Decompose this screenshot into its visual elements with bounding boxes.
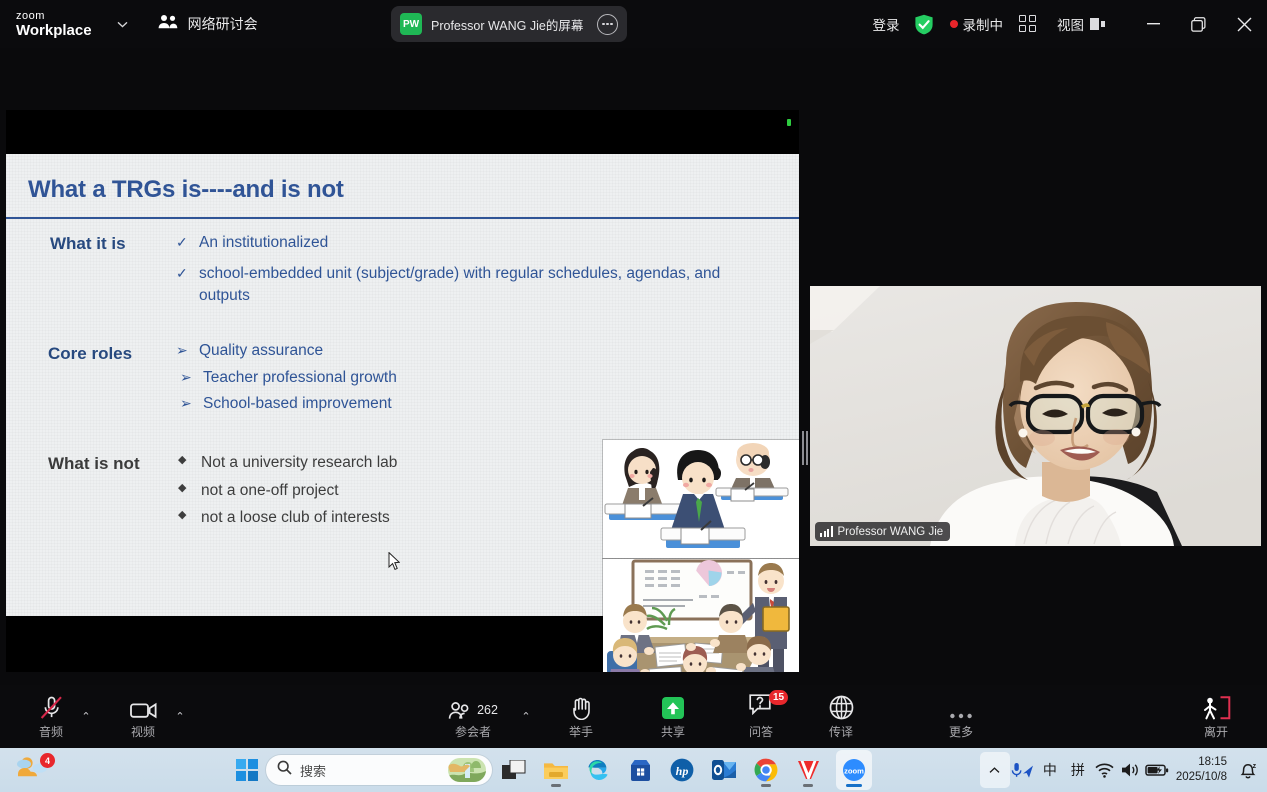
svg-text:hp: hp <box>676 764 689 778</box>
file-explorer-icon[interactable] <box>542 750 570 790</box>
running-indicator <box>803 784 813 787</box>
search-input[interactable]: 搜索 <box>266 755 492 785</box>
microsoft-store-icon[interactable] <box>626 750 654 790</box>
participant-video-tile[interactable]: Professor WANG Jie <box>810 286 1261 546</box>
weather-cloud-sun-icon <box>14 772 56 789</box>
google-chrome-icon[interactable] <box>752 750 780 790</box>
chevron-up-icon[interactable] <box>980 752 1010 788</box>
clipart-three-people-taking-notes <box>603 440 799 558</box>
list-item: ➢ Teacher professional growth <box>176 367 606 390</box>
leave-meeting-icon <box>1201 694 1231 720</box>
svg-text:z: z <box>1253 763 1257 770</box>
webinar-label: 网络研讨会 <box>188 14 258 34</box>
diamond-bullet-icon: ◆ <box>178 452 192 475</box>
green-dot-icon <box>787 119 791 126</box>
share-tab-title: Professor WANG Jie的屏幕 <box>431 15 588 34</box>
check-mark-icon: ✓ <box>176 263 190 308</box>
participant-name: Professor WANG Jie <box>838 526 944 538</box>
clock-date: 2025/10/8 <box>1176 770 1227 785</box>
ime-pinyin-indicator[interactable]: 拼 <box>1064 752 1092 788</box>
recording-indicator[interactable]: 录制中 <box>950 14 1004 34</box>
presentation-slide: What a TRGs is----and is not What it is … <box>6 154 799 616</box>
recording-label: 录制中 <box>963 14 1004 34</box>
people-icon <box>158 14 179 34</box>
qa-button[interactable]: 15 问答 <box>738 685 784 748</box>
active-indicator <box>846 784 862 787</box>
task-view-icon[interactable] <box>500 750 528 790</box>
diamond-bullet-icon: ◆ <box>178 480 192 503</box>
login-button[interactable]: 登录 <box>873 14 900 34</box>
wps-office-icon[interactable] <box>794 750 822 790</box>
list-item: ✓ An institutionalized <box>176 232 736 255</box>
outlook-icon[interactable] <box>710 750 738 790</box>
search-icon <box>277 760 292 780</box>
svg-text:zoom: zoom <box>844 767 864 776</box>
leave-label: 离开 <box>1204 723 1228 740</box>
wifi-icon[interactable] <box>1092 752 1118 788</box>
more-dots-icon[interactable] <box>597 14 618 35</box>
audio-options-caret[interactable]: ⌃ <box>76 685 96 748</box>
audio-label: 音频 <box>39 723 63 740</box>
list-item: ➢ Quality assurance <box>176 340 606 363</box>
participant-name-tag: Professor WANG Jie <box>815 522 950 541</box>
participants-button[interactable]: 262 参会者 <box>442 685 504 748</box>
more-button[interactable]: 更多 <box>938 685 984 748</box>
participants-icon: 262 <box>448 694 498 720</box>
shield-check-icon[interactable] <box>914 14 934 35</box>
weather-notification-badge: 4 <box>40 753 55 768</box>
video-options-caret[interactable]: ⌃ <box>170 685 190 748</box>
section-label-core-roles: Core roles <box>48 344 132 364</box>
running-indicator <box>761 784 771 787</box>
participant-count: 262 <box>477 703 498 717</box>
interpretation-label: 传译 <box>829 723 853 740</box>
titlebar-right-controls: 登录 录制中 视图 <box>873 0 1267 48</box>
qa-label: 问答 <box>749 723 773 740</box>
section-label-what-is-not: What is not <box>48 454 140 474</box>
search-placeholder: 搜索 <box>300 761 440 780</box>
list-item: ◆ Not a university research lab <box>178 452 598 475</box>
participants-options-caret[interactable]: ⌃ <box>516 685 536 748</box>
more-label: 更多 <box>949 723 973 740</box>
mouse-cursor-icon <box>388 552 400 570</box>
close-icon[interactable] <box>1221 0 1267 48</box>
arrow-bullet-icon: ➢ <box>180 367 194 390</box>
windows-taskbar: 4 搜索 <box>0 748 1267 792</box>
qa-question-icon: 15 <box>749 694 773 720</box>
webinar-type-indicator: 网络研讨会 <box>158 14 258 34</box>
list-item: ➢ School-based improvement <box>176 393 606 416</box>
camera-icon <box>130 694 157 720</box>
qa-unread-badge: 15 <box>769 690 788 705</box>
restore-icon[interactable] <box>1176 0 1221 48</box>
taskbar-clock[interactable]: 18:15 2025/10/8 <box>1170 755 1235 784</box>
share-screen-button[interactable]: 共享 <box>650 685 696 748</box>
share-screen-icon <box>661 694 685 720</box>
list-item: ◆ not a loose club of interests <box>178 507 598 530</box>
microsoft-edge-icon[interactable] <box>584 750 612 790</box>
taskbar-center-group: 搜索 <box>236 748 492 792</box>
raise-hand-label: 举手 <box>569 723 593 740</box>
ime-mode-indicator[interactable]: 中 <box>1036 752 1064 788</box>
avatar: PW <box>400 13 422 35</box>
minimize-icon[interactable] <box>1131 0 1176 48</box>
notification-bell-dnd-icon[interactable]: z <box>1235 752 1261 788</box>
diamond-bullet-icon: ◆ <box>178 507 192 530</box>
battery-charging-icon[interactable] <box>1144 752 1170 788</box>
zoom-icon[interactable]: zoom <box>836 750 872 790</box>
video-button[interactable]: 视频 <box>120 685 166 748</box>
windows-start-icon[interactable] <box>236 759 258 781</box>
list-item: ✓ school-embedded unit (subject/grade) w… <box>176 263 736 308</box>
raise-hand-icon <box>570 694 593 720</box>
landscape-thumbnail-icon[interactable] <box>448 758 486 782</box>
zoom-brand-line1: zoom <box>16 11 92 22</box>
shared-screen-frame[interactable]: What a TRGs is----and is not What it is … <box>6 110 799 672</box>
taskbar-weather-widget[interactable]: 4 <box>14 755 58 785</box>
zoom-titlebar: zoom Workplace 网络研讨会 PW Professor WANG J… <box>0 0 1267 48</box>
clipart-meeting-around-table-with-presenter <box>603 559 799 672</box>
participants-label: 参会者 <box>455 723 491 740</box>
raise-hand-button[interactable]: 举手 <box>558 685 604 748</box>
microphone-pen-icon[interactable] <box>1010 752 1036 788</box>
hp-support-icon[interactable]: hp <box>668 750 696 790</box>
interpretation-button[interactable]: 传译 <box>818 685 864 748</box>
arrow-bullet-icon: ➢ <box>180 393 194 416</box>
zoom-webinar-window: zoom Workplace 网络研讨会 PW Professor WANG J… <box>0 0 1267 792</box>
apps-grid-icon[interactable] <box>1019 15 1037 33</box>
clock-time: 18:15 <box>1198 755 1227 770</box>
leave-button[interactable]: 离开 <box>1188 685 1244 748</box>
system-tray: 中 拼 <box>980 748 1261 792</box>
arrow-bullet-icon: ➢ <box>176 340 190 363</box>
globe-interpretation-icon <box>829 694 854 720</box>
check-mark-icon: ✓ <box>176 232 190 255</box>
zoom-brand-line2: Workplace <box>16 23 92 38</box>
audio-button[interactable]: 音频 <box>28 685 74 748</box>
active-share-tab[interactable]: PW Professor WANG Jie的屏幕 <box>391 6 627 42</box>
running-indicator <box>551 784 561 787</box>
taskbar-app-icons: hp <box>500 748 872 792</box>
more-ellipsis-icon <box>949 694 973 720</box>
share-label: 共享 <box>661 723 685 740</box>
video-label: 视频 <box>131 723 155 740</box>
resize-handle-icon[interactable] <box>801 428 809 468</box>
volume-icon[interactable] <box>1118 752 1144 788</box>
title-divider <box>6 217 799 219</box>
section-label-what-it-is: What it is <box>50 234 126 254</box>
list-item: ◆ not a one-off project <box>178 480 598 503</box>
chevron-down-icon[interactable] <box>114 15 132 33</box>
zoom-workplace-logo: zoom Workplace <box>16 11 92 38</box>
microphone-muted-icon <box>39 694 64 720</box>
audio-level-bars-icon <box>820 526 833 537</box>
zoom-meeting-toolbar: 音频 ⌃ 视频 ⌃ <box>0 685 1267 748</box>
view-label: 视图 <box>1057 14 1084 34</box>
view-layout-button[interactable]: 视图 <box>1057 14 1105 34</box>
shared-content-area: What a TRGs is----and is not What it is … <box>0 48 1267 685</box>
layout-icon <box>1090 18 1105 30</box>
page-title: What a TRGs is----and is not <box>28 176 344 204</box>
record-dot-icon <box>950 20 958 28</box>
